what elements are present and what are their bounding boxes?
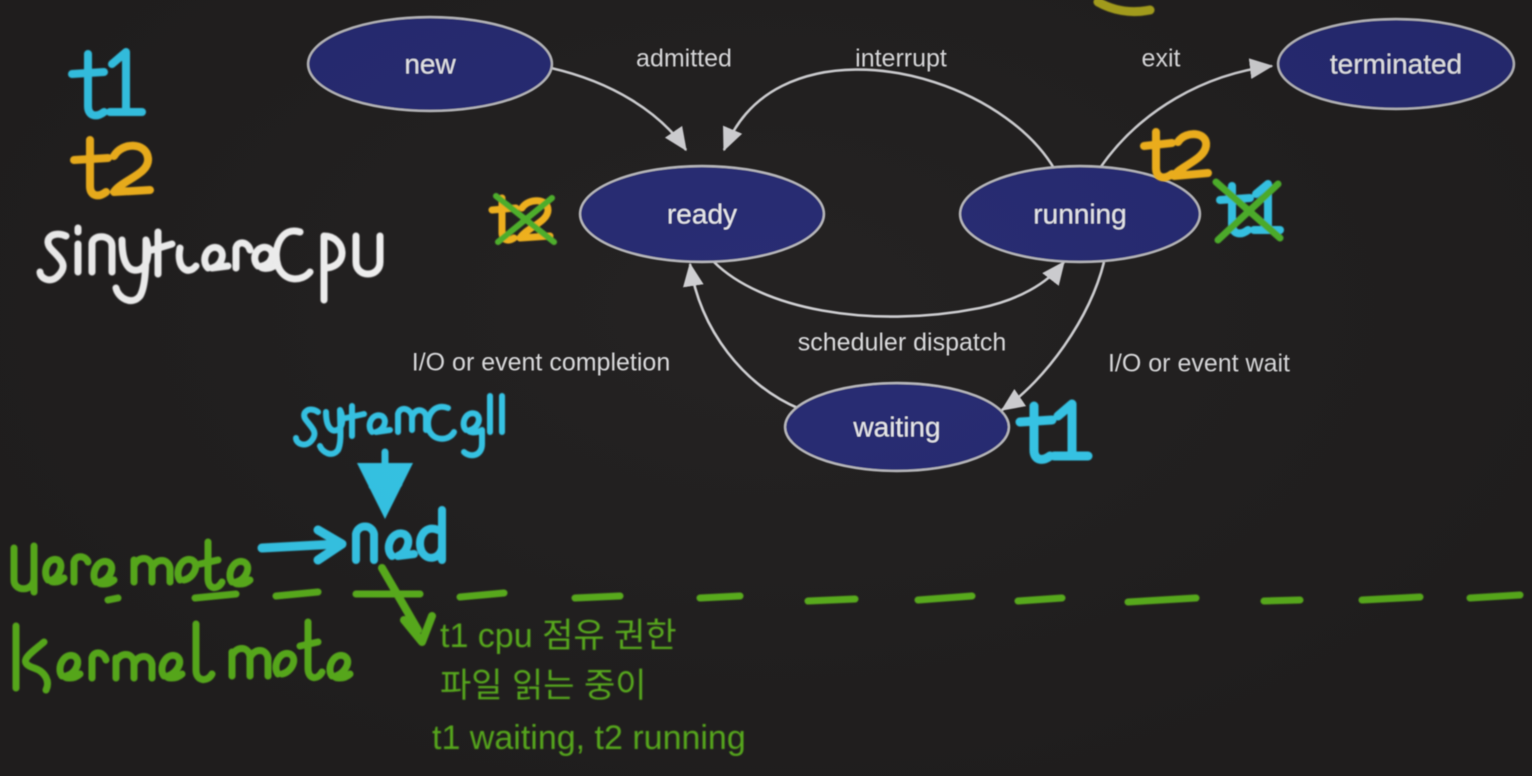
node-new-label: new <box>404 48 456 79</box>
node-running[interactable]: running <box>960 166 1200 262</box>
edge-running-to-waiting <box>1002 262 1104 410</box>
edge-running-to-terminated <box>1100 66 1272 168</box>
node-new[interactable]: new <box>308 17 552 111</box>
annotation-system-call <box>296 396 502 455</box>
edge-new-to-ready <box>551 68 686 150</box>
top-yellow-stroke-mark <box>1098 2 1150 12</box>
annotation-legend-t1 <box>72 52 142 115</box>
node-terminated[interactable]: terminated <box>1278 19 1514 109</box>
annotation-read <box>356 510 442 560</box>
process-state-diagram: new ready running terminated waiting <box>0 0 1532 776</box>
annotation-t2-at-running <box>1144 132 1208 177</box>
node-waiting[interactable]: waiting <box>785 383 1009 471</box>
node-terminated-label: terminated <box>1330 48 1462 79</box>
note-line-3: t1 waiting, t2 running <box>432 719 746 757</box>
edge-label-admitted: admitted <box>636 45 732 73</box>
node-ready[interactable]: ready <box>580 166 824 262</box>
annotation-kernel-mode <box>16 622 350 690</box>
diagram-nodes: new ready running terminated waiting <box>308 17 1514 471</box>
handwriting-annotation-layer: t1 cpu 점유 권한 파일 읽는 중이 t1 waiting, t2 run… <box>0 0 1532 776</box>
system-call-arrowhead <box>372 484 399 500</box>
edge-label-io-event-completion: I/O or event completion <box>412 349 670 377</box>
read-to-note-diagonal-arrow <box>382 568 432 642</box>
node-ready-label: ready <box>667 198 737 229</box>
screenshot-canvas: new ready running terminated waiting <box>0 0 1532 776</box>
edge-waiting-to-ready <box>690 264 800 409</box>
annotation-t2-at-ready-struck <box>492 196 554 242</box>
node-waiting-label: waiting <box>852 411 940 442</box>
diagram-edges <box>551 66 1272 410</box>
node-running-label: running <box>1033 198 1126 229</box>
annotation-user-mode <box>14 542 250 592</box>
edge-label-interrupt: interrupt <box>855 45 947 73</box>
annotation-t1-at-waiting <box>1020 404 1088 459</box>
video-softening-overlay <box>0 0 1532 776</box>
edge-ready-to-running <box>714 262 1064 317</box>
note-line-2: 파일 읽는 중이 <box>440 667 647 705</box>
edge-label-io-event-wait: I/O or event wait <box>1108 350 1290 378</box>
edge-label-scheduler-dispatch: scheduler dispatch <box>798 329 1006 357</box>
edge-label-exit: exit <box>1142 45 1181 73</box>
annotation-single-core-cpu <box>40 228 380 301</box>
note-line-1: t1 cpu 점유 권한 <box>440 617 677 655</box>
read-pointer-right-arrow <box>262 530 342 560</box>
annotation-t1-at-running-struck <box>1216 182 1280 240</box>
diagram-edge-labels: admitted interrupt exit scheduler dispat… <box>412 45 1290 378</box>
edge-running-to-ready <box>724 70 1055 170</box>
annotation-legend-t2 <box>74 140 150 195</box>
mode-divider-dashed-line <box>108 592 1520 602</box>
annotation-note-block: t1 cpu 점유 권한 파일 읽는 중이 t1 waiting, t2 run… <box>432 617 746 757</box>
